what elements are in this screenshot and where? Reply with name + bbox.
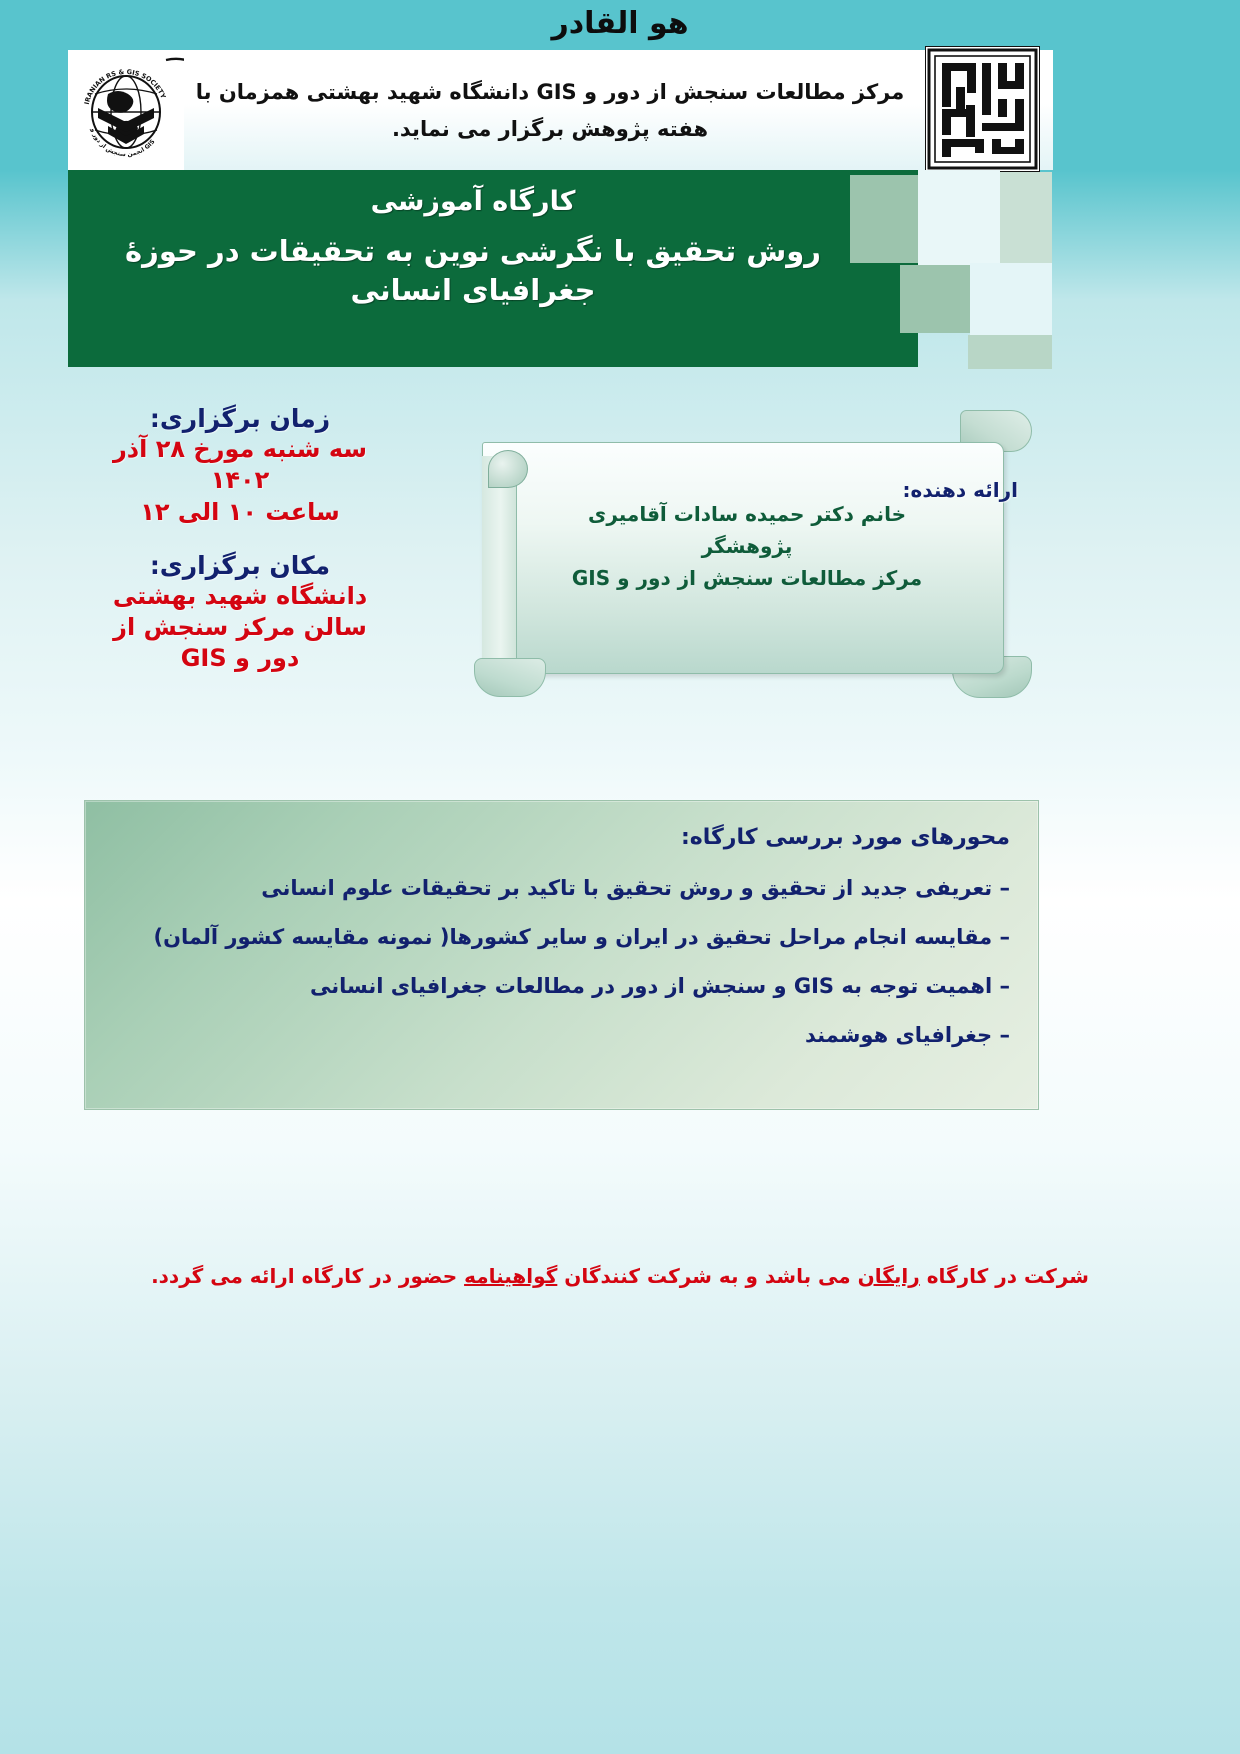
event-time-label: زمان برگزاری: xyxy=(90,403,390,434)
topics-content: محورهای مورد بررسی کارگاه: – تعریفی جدید… xyxy=(96,806,1026,1050)
presenter-role: پژوهشگر xyxy=(512,530,982,562)
footer-part-3: حضور در کارگاه ارائه می گردد. xyxy=(151,1264,464,1288)
event-hour-value: ساعت ۱۰ الی ۱۲ xyxy=(90,497,390,528)
event-details: زمان برگزاری: سه شنبه مورخ ۲۸ آذر ۱۴۰۲ س… xyxy=(90,403,390,675)
topic-item-4: – جغرافیای هوشمند xyxy=(96,1022,1010,1049)
footer-part-2: می باشد و به شرکت کنندگان xyxy=(557,1264,857,1288)
presenter-info: خانم دکتر حمیده سادات آقامیری پژوهشگر مر… xyxy=(512,498,982,594)
scroll-curl-bottom-left xyxy=(474,658,546,697)
event-place-value-1: دانشگاه شهید بهشتی xyxy=(90,581,390,612)
presenter-scroll: ارائه دهنده: خانم دکتر حمیده سادات آقامی… xyxy=(452,410,1032,695)
footer-certificate-word: گواهینامه xyxy=(464,1264,557,1288)
spacer xyxy=(90,528,390,550)
footer-part-1: شرکت در کارگاه xyxy=(920,1264,1089,1288)
topic-item-3: – اهمیت توجه به GIS و سنجش از دور در مطا… xyxy=(96,973,1010,1000)
presenter-name: خانم دکتر حمیده سادات آقامیری xyxy=(512,498,982,530)
decor-square-5 xyxy=(970,263,1052,335)
footer-free-word: رایگان xyxy=(858,1264,920,1288)
topic-item-2: – مقایسه انجام مراحل تحقیق در ایران و سا… xyxy=(96,924,1010,951)
rs-gis-society-logo-icon: IRANIAN RS & GIS SOCIETY انجمن سنجش از د… xyxy=(68,50,184,170)
basmala-text: هو القادر xyxy=(0,6,1240,41)
banner-kicker: کارگاه آموزشی xyxy=(78,188,868,216)
topics-heading: محورهای مورد بررسی کارگاه: xyxy=(96,824,1010,853)
header-announcement: مرکز مطالعات سنجش از دور و GIS دانشگاه ش… xyxy=(185,52,915,170)
event-date-value: سه شنبه مورخ ۲۸ آذر ۱۴۰۲ xyxy=(90,434,390,496)
header-line-1: مرکز مطالعات سنجش از دور و GIS دانشگاه ش… xyxy=(185,81,915,104)
header-line-2: هفته پژوهش برگزار می نماید. xyxy=(185,118,915,141)
topics-list: – تعریفی جدید از تحقیق و روش تحقیق با تا… xyxy=(96,875,1026,1050)
banner-text-block: کارگاه آموزشی روش تحقیق با نگرشی نوین به… xyxy=(78,176,868,311)
scroll-curl-knob xyxy=(488,450,528,488)
topic-item-1: – تعریفی جدید از تحقیق و روش تحقیق با تا… xyxy=(96,875,1010,902)
banner-title: روش تحقیق با نگرشی نوین به تحقیقات در حو… xyxy=(78,232,868,310)
event-place-value-2: سالن مرکز سنجش از دور و GIS xyxy=(90,612,390,674)
decor-square-3 xyxy=(1000,172,1052,264)
decor-square-6 xyxy=(968,335,1052,369)
poster-canvas: هو القادر IRANIAN RS & GIS xyxy=(0,0,1240,1754)
shahid-beheshti-university-logo-icon xyxy=(925,46,1040,172)
event-place-label: مکان برگزاری: xyxy=(90,550,390,581)
footer-note: شرکت در کارگاه رایگان می باشد و به شرکت … xyxy=(100,1262,1140,1290)
presenter-affiliation: مرکز مطالعات سنجش از دور و GIS xyxy=(512,562,982,594)
decor-square-4 xyxy=(900,265,970,333)
decor-square-2 xyxy=(918,170,1000,265)
